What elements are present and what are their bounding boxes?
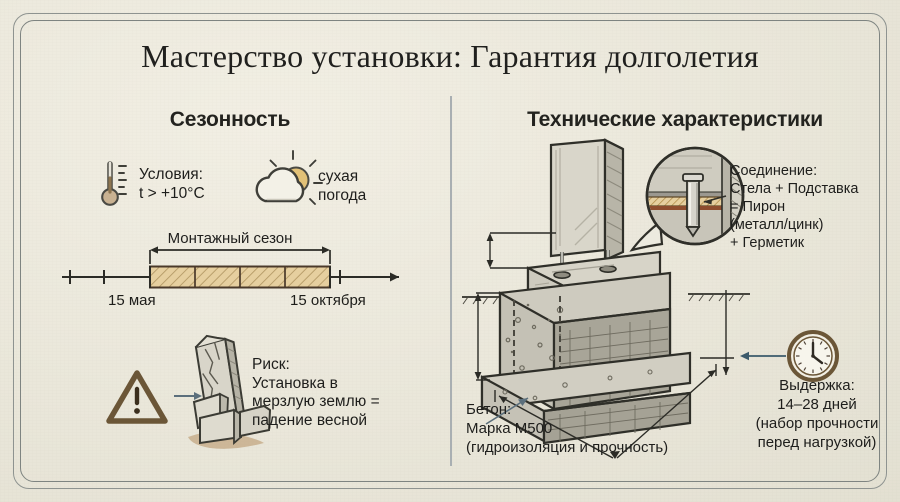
stele-block xyxy=(551,140,623,260)
curing-text: Выдержка: 14–28 дней (набор прочности пе… xyxy=(742,376,892,452)
concrete-text: Бетон: Марка М500 (гидроизоляция и прочн… xyxy=(466,400,668,457)
dimension-line-right xyxy=(700,290,734,375)
dimension-arrowhead-right xyxy=(723,367,730,375)
joint-callout-bubble xyxy=(632,148,745,252)
curing-arrow-icon xyxy=(740,352,786,360)
joint-callout-text: Соединение: Стела + Подставка = Пирон (м… xyxy=(730,162,858,252)
infographic-root: Мастерство установки: Гарантия долголети… xyxy=(0,0,900,502)
clock-icon xyxy=(789,332,837,380)
